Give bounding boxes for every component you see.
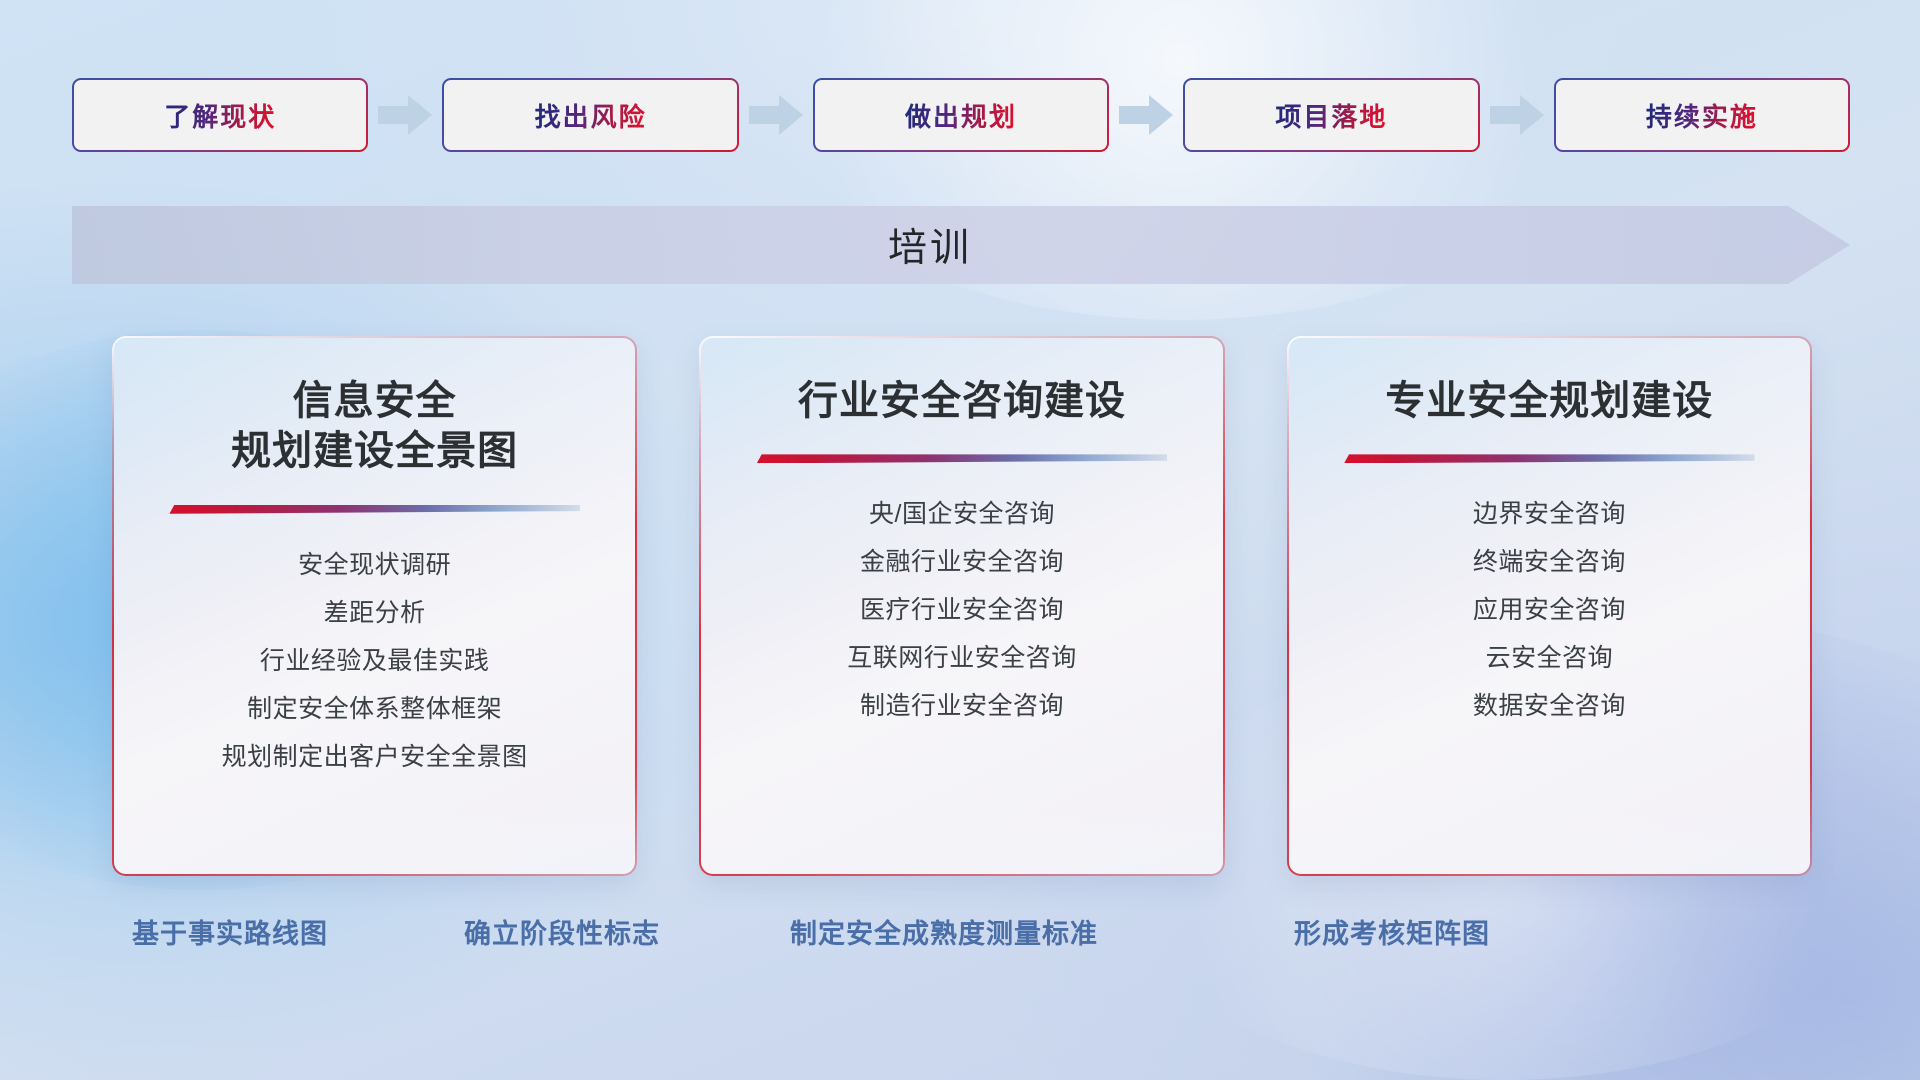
arrow-right-icon bbox=[378, 95, 432, 135]
process-step-surface: 持续实施 bbox=[1556, 80, 1848, 150]
process-step-label: 找出风险 bbox=[535, 97, 647, 134]
arrow-right-icon bbox=[1490, 95, 1544, 135]
service-card-surface: 信息安全 规划建设全景图安全现状调研差距分析行业经验及最佳实践制定安全体系整体框… bbox=[114, 338, 635, 874]
process-step-label: 做出规划 bbox=[905, 97, 1017, 134]
process-step-4[interactable]: 项目落地 bbox=[1183, 78, 1479, 152]
service-card-divider bbox=[1344, 454, 1755, 463]
service-card-list-item: 行业经验及最佳实践 bbox=[260, 640, 490, 682]
service-card-list-item: 互联网行业安全咨询 bbox=[847, 637, 1077, 679]
process-step-label: 项目落地 bbox=[1275, 97, 1387, 134]
service-card-title: 行业安全咨询建设 bbox=[798, 376, 1126, 426]
process-step-surface: 项目落地 bbox=[1185, 80, 1477, 150]
training-band-label: 培训 bbox=[72, 206, 1850, 284]
service-card-list: 边界安全咨询终端安全咨询应用安全咨询云安全咨询数据安全咨询 bbox=[1311, 493, 1788, 727]
service-card-surface: 专业安全规划建设边界安全咨询终端安全咨询应用安全咨询云安全咨询数据安全咨询 bbox=[1289, 338, 1810, 874]
service-card-list: 央/国企安全咨询金融行业安全咨询医疗行业安全咨询互联网行业安全咨询制造行业安全咨… bbox=[723, 493, 1200, 727]
service-card-list-item: 云安全咨询 bbox=[1486, 637, 1614, 679]
process-step-surface: 做出规划 bbox=[815, 80, 1107, 150]
footer-note-2: 确立阶段性标志 bbox=[464, 912, 660, 951]
process-step-label: 持续实施 bbox=[1646, 97, 1758, 134]
service-card-title: 信息安全 规划建设全景图 bbox=[231, 376, 518, 477]
service-card-list-item: 安全现状调研 bbox=[298, 544, 451, 586]
service-card-list-item: 医疗行业安全咨询 bbox=[860, 589, 1064, 631]
process-step-5[interactable]: 持续实施 bbox=[1554, 78, 1850, 152]
service-card-list-item: 应用安全咨询 bbox=[1473, 589, 1626, 631]
service-card-list-item: 央/国企安全咨询 bbox=[869, 493, 1055, 535]
service-card-divider bbox=[757, 454, 1168, 463]
service-card-3[interactable]: 专业安全规划建设边界安全咨询终端安全咨询应用安全咨询云安全咨询数据安全咨询 bbox=[1287, 336, 1812, 876]
service-card-list-item: 规划制定出客户安全全景图 bbox=[222, 736, 528, 778]
process-step-surface: 找出风险 bbox=[444, 80, 736, 150]
service-card-list-item: 数据安全咨询 bbox=[1473, 685, 1626, 727]
footer-note-row: 基于事实路线图确立阶段性标志制定安全成熟度测量标准形成考核矩阵图 bbox=[0, 912, 1920, 960]
footer-note-4: 形成考核矩阵图 bbox=[1294, 912, 1490, 951]
arrow-right-icon bbox=[1119, 95, 1173, 135]
service-card-list-item: 终端安全咨询 bbox=[1473, 541, 1626, 583]
footer-note-1: 基于事实路线图 bbox=[132, 912, 328, 951]
service-card-list-item: 差距分析 bbox=[324, 592, 426, 634]
service-card-title: 专业安全规划建设 bbox=[1385, 376, 1713, 426]
process-step-2[interactable]: 找出风险 bbox=[442, 78, 738, 152]
service-card-list-item: 边界安全咨询 bbox=[1473, 493, 1626, 535]
service-card-list-item: 制造行业安全咨询 bbox=[860, 685, 1064, 727]
footer-note-3: 制定安全成熟度测量标准 bbox=[790, 912, 1098, 951]
service-card-list-item: 制定安全体系整体框架 bbox=[247, 688, 502, 730]
service-card-surface: 行业安全咨询建设央/国企安全咨询金融行业安全咨询医疗行业安全咨询互联网行业安全咨… bbox=[701, 338, 1222, 874]
training-band: 培训 bbox=[72, 206, 1850, 284]
process-step-surface: 了解现状 bbox=[74, 80, 366, 150]
service-card-list-item: 金融行业安全咨询 bbox=[860, 541, 1064, 583]
card-row: 信息安全 规划建设全景图安全现状调研差距分析行业经验及最佳实践制定安全体系整体框… bbox=[112, 336, 1812, 876]
arrow-right-icon bbox=[749, 95, 803, 135]
service-card-list: 安全现状调研差距分析行业经验及最佳实践制定安全体系整体框架规划制定出客户安全全景… bbox=[136, 544, 613, 778]
process-step-row: 了解现状找出风险做出规划项目落地持续实施 bbox=[72, 78, 1850, 152]
process-step-1[interactable]: 了解现状 bbox=[72, 78, 368, 152]
process-step-label: 了解现状 bbox=[164, 97, 276, 134]
service-card-divider bbox=[169, 505, 580, 514]
slide-canvas: 了解现状找出风险做出规划项目落地持续实施 培训 信息安全 规划建设全景图安全现状… bbox=[0, 0, 1920, 1080]
service-card-2[interactable]: 行业安全咨询建设央/国企安全咨询金融行业安全咨询医疗行业安全咨询互联网行业安全咨… bbox=[699, 336, 1224, 876]
process-step-3[interactable]: 做出规划 bbox=[813, 78, 1109, 152]
service-card-1[interactable]: 信息安全 规划建设全景图安全现状调研差距分析行业经验及最佳实践制定安全体系整体框… bbox=[112, 336, 637, 876]
